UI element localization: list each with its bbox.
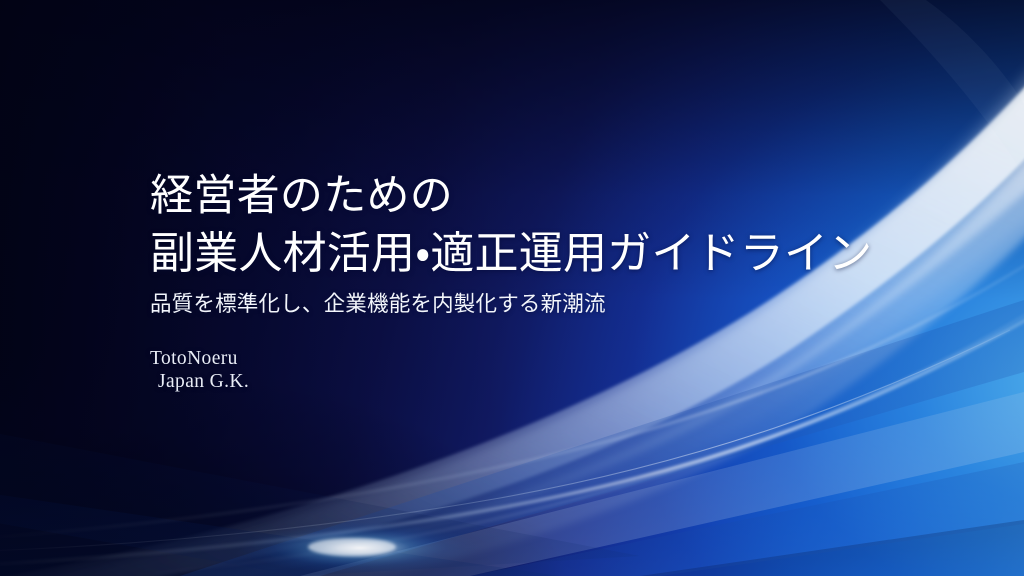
swoosh-edge-streak-1 <box>880 0 1024 176</box>
organization-entity: Japan G.K. <box>150 370 910 393</box>
slide-subtitle: 品質を標準化し、企業機能を内製化する新潮流 <box>150 289 910 319</box>
swoosh-band-dark-left <box>0 492 560 576</box>
swoosh-band-dark-1 <box>640 520 1024 576</box>
swoosh-band-blue-2 <box>470 462 1024 576</box>
slide-title-line-1: 経営者のための <box>150 168 910 225</box>
presentation-slide: 経営者のための 副業人材活用・適正運用ガイドライン 品質を標準化し、企業機能を内… <box>0 0 1024 576</box>
swoosh-edge-streak-group <box>880 0 1024 176</box>
swoosh-glow-hotspot <box>240 522 480 574</box>
swoosh-glow-core <box>308 538 396 556</box>
swoosh-band-dark-mid <box>0 430 640 576</box>
swoosh-band-light-1 <box>300 392 1024 576</box>
organization-name: TotoNoeru <box>150 347 910 370</box>
organization-block: TotoNoeru Japan G.K. <box>150 347 910 393</box>
slide-title-line-2: 副業人材活用・適正運用ガイドライン <box>150 225 910 282</box>
title-text-block: 経営者のための 副業人材活用・適正運用ガイドライン 品質を標準化し、企業機能を内… <box>150 168 910 393</box>
